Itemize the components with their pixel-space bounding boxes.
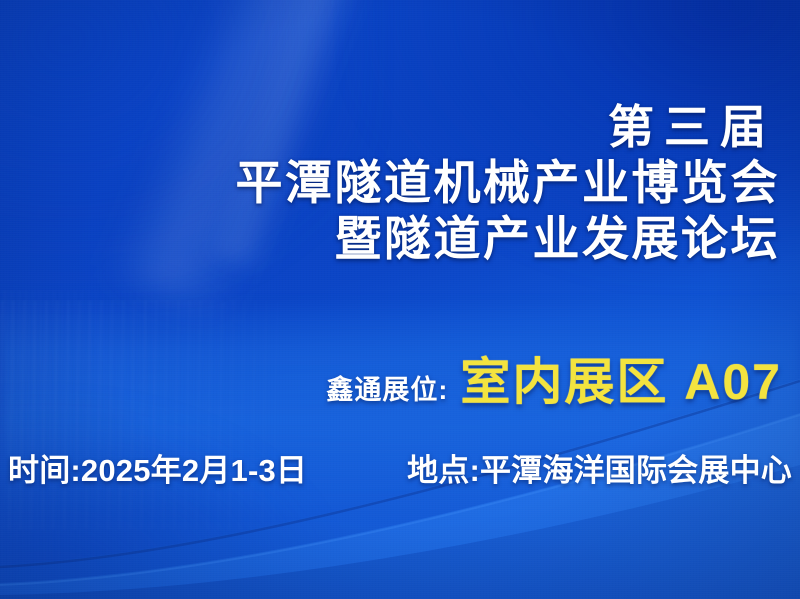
event-meta-row: 时间:2025年2月1-3日 地点:平潭海洋国际会展中心 bbox=[8, 445, 792, 490]
event-date-text: 时间:2025年2月1-3日 bbox=[8, 445, 307, 490]
booth-number-badge: 室内展区 A07 bbox=[460, 342, 782, 414]
booth-label: 鑫通展位: bbox=[326, 368, 448, 407]
event-title-line-3: 暨隧道产业发展论坛 bbox=[20, 215, 780, 262]
event-venue-text: 地点:平潭海洋国际会展中心 bbox=[407, 445, 792, 490]
event-title-block: 第三届 平潭隧道机械产业博览会 暨隧道产业发展论坛 bbox=[20, 104, 780, 262]
expo-banner: 第三届 平潭隧道机械产业博览会 暨隧道产业发展论坛 鑫通展位: 室内展区 A07… bbox=[0, 0, 800, 599]
event-title-line-1: 第三届 bbox=[20, 104, 780, 150]
booth-info-row: 鑫通展位: 室内展区 A07 bbox=[0, 342, 782, 414]
banner-content: 第三届 平潭隧道机械产业博览会 暨隧道产业发展论坛 鑫通展位: 室内展区 A07… bbox=[0, 0, 800, 599]
event-title-line-2: 平潭隧道机械产业博览会 bbox=[20, 159, 780, 206]
